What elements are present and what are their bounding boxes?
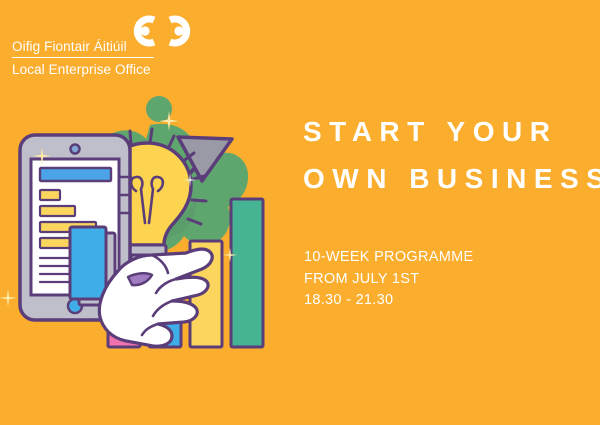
- logo-line-english: Local Enterprise Office: [12, 61, 162, 78]
- logo-line-irish: Oifig Fiontair Áitiúil: [12, 38, 162, 55]
- sparkle-icon-top: [158, 110, 180, 132]
- business-startup-illustration: [0, 95, 290, 355]
- bar-green: [231, 199, 263, 347]
- sparkle-icon-bulb: [182, 172, 198, 188]
- details-line-programme: 10-WEEK PROGRAMME: [304, 247, 584, 269]
- blue-card: [70, 227, 106, 299]
- headline-line-2: OWN BUSINESS: [303, 155, 600, 202]
- sparkle-icon-chart: [222, 247, 238, 263]
- headline-line-1: START YOUR: [303, 108, 600, 155]
- details-line-start-date: FROM JULY 1ST: [304, 269, 584, 291]
- details-block: 10-WEEK PROGRAMME FROM JULY 1ST 18.30 - …: [304, 247, 584, 312]
- logo-lockup: Oifig Fiontair Áitiúil Local Enterprise …: [8, 8, 198, 82]
- sparkle-icon-edge: [0, 288, 18, 308]
- sparkle-icon-left: [32, 146, 52, 166]
- logo-wordmark: Oifig Fiontair Áitiúil Local Enterprise …: [12, 38, 162, 78]
- screen-header-bar: [40, 168, 111, 181]
- poster-canvas: Oifig Fiontair Áitiúil Local Enterprise …: [0, 0, 600, 425]
- details-line-time: 18.30 - 21.30: [304, 290, 584, 312]
- headline-block: START YOUR OWN BUSINESS: [303, 108, 600, 202]
- logo-divider-rule: [12, 57, 154, 58]
